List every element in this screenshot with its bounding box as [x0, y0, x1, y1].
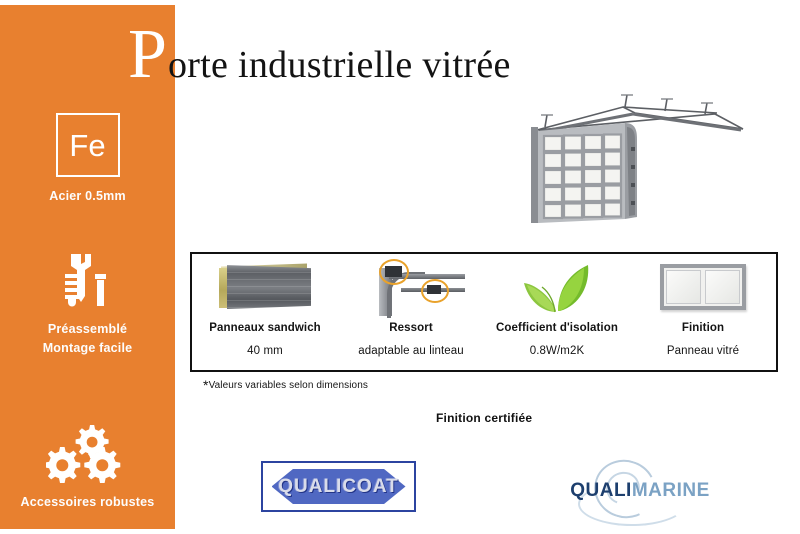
- gears-icon: [0, 423, 175, 485]
- green-leaves-icon: [484, 254, 630, 316]
- certified-finish-label: Finition certifiée: [436, 411, 532, 425]
- fe-element-icon: Fe: [56, 113, 120, 177]
- feature-label: Ressort: [389, 322, 433, 334]
- spring-mechanism-icon: [338, 254, 484, 316]
- qualimarine-part1: QUALI: [570, 480, 632, 501]
- feature-panneaux-sandwich: Panneaux sandwich 40 mm: [192, 254, 338, 370]
- qualimarine-part2: MARINE: [632, 480, 710, 501]
- features-box: Panneaux sandwich 40 mm Ressort adaptabl…: [190, 252, 778, 372]
- glazed-panel-icon: [630, 254, 776, 316]
- fe-symbol-text: Fe: [69, 130, 105, 161]
- feature-value: 0.8W/m2K: [530, 345, 584, 357]
- poster-page: Fe Acier 0.5mm Préassemblé: [0, 0, 800, 534]
- sidebar-caption-preassembled: Préassemblé: [0, 320, 175, 339]
- sidebar-block-steel: Fe Acier 0.5mm: [0, 113, 175, 206]
- feature-ressort: Ressort adaptable au linteau: [338, 254, 484, 370]
- wrench-screw-icon: [0, 250, 175, 312]
- qualimarine-wordmark: QUALIMARINE: [560, 480, 720, 502]
- feature-label: Coefficient d'isolation: [496, 322, 618, 334]
- sidebar-caption-steel: Acier 0.5mm: [0, 187, 175, 206]
- feature-coefficient-isolation: Coefficient d'isolation 0.8W/m2K: [484, 254, 630, 370]
- sidebar-caption-accessories: Accessoires robustes: [0, 493, 175, 512]
- sidebar-caption-easy-assembly: Montage facile: [0, 339, 175, 358]
- footnote-text: Valeurs variables selon dimensions: [209, 380, 368, 391]
- product-door-image: [505, 85, 755, 225]
- feature-value: adaptable au linteau: [358, 345, 464, 357]
- page-title: P orte industrielle vitrée: [128, 24, 511, 86]
- feature-finition: Finition Panneau vitré: [630, 254, 776, 370]
- title-text: orte industrielle vitrée: [168, 40, 511, 90]
- qualimarine-logo: QUALIMARINE: [560, 466, 720, 512]
- sandwich-panel-icon: [192, 254, 338, 316]
- feature-value: 40 mm: [247, 345, 283, 357]
- feature-value: Panneau vitré: [667, 345, 739, 357]
- feature-label: Finition: [682, 322, 724, 334]
- qualicoat-wordmark: QUALICOAT: [272, 468, 406, 506]
- footnote: *Valeurs variables selon dimensions: [203, 380, 368, 391]
- qualicoat-logo: QUALICOAT: [261, 461, 416, 512]
- sidebar-block-preassembled: Préassemblé Montage facile: [0, 250, 175, 358]
- sidebar-block-accessories: Accessoires robustes: [0, 423, 175, 512]
- title-dropcap: P: [128, 24, 167, 86]
- feature-label: Panneaux sandwich: [209, 322, 321, 334]
